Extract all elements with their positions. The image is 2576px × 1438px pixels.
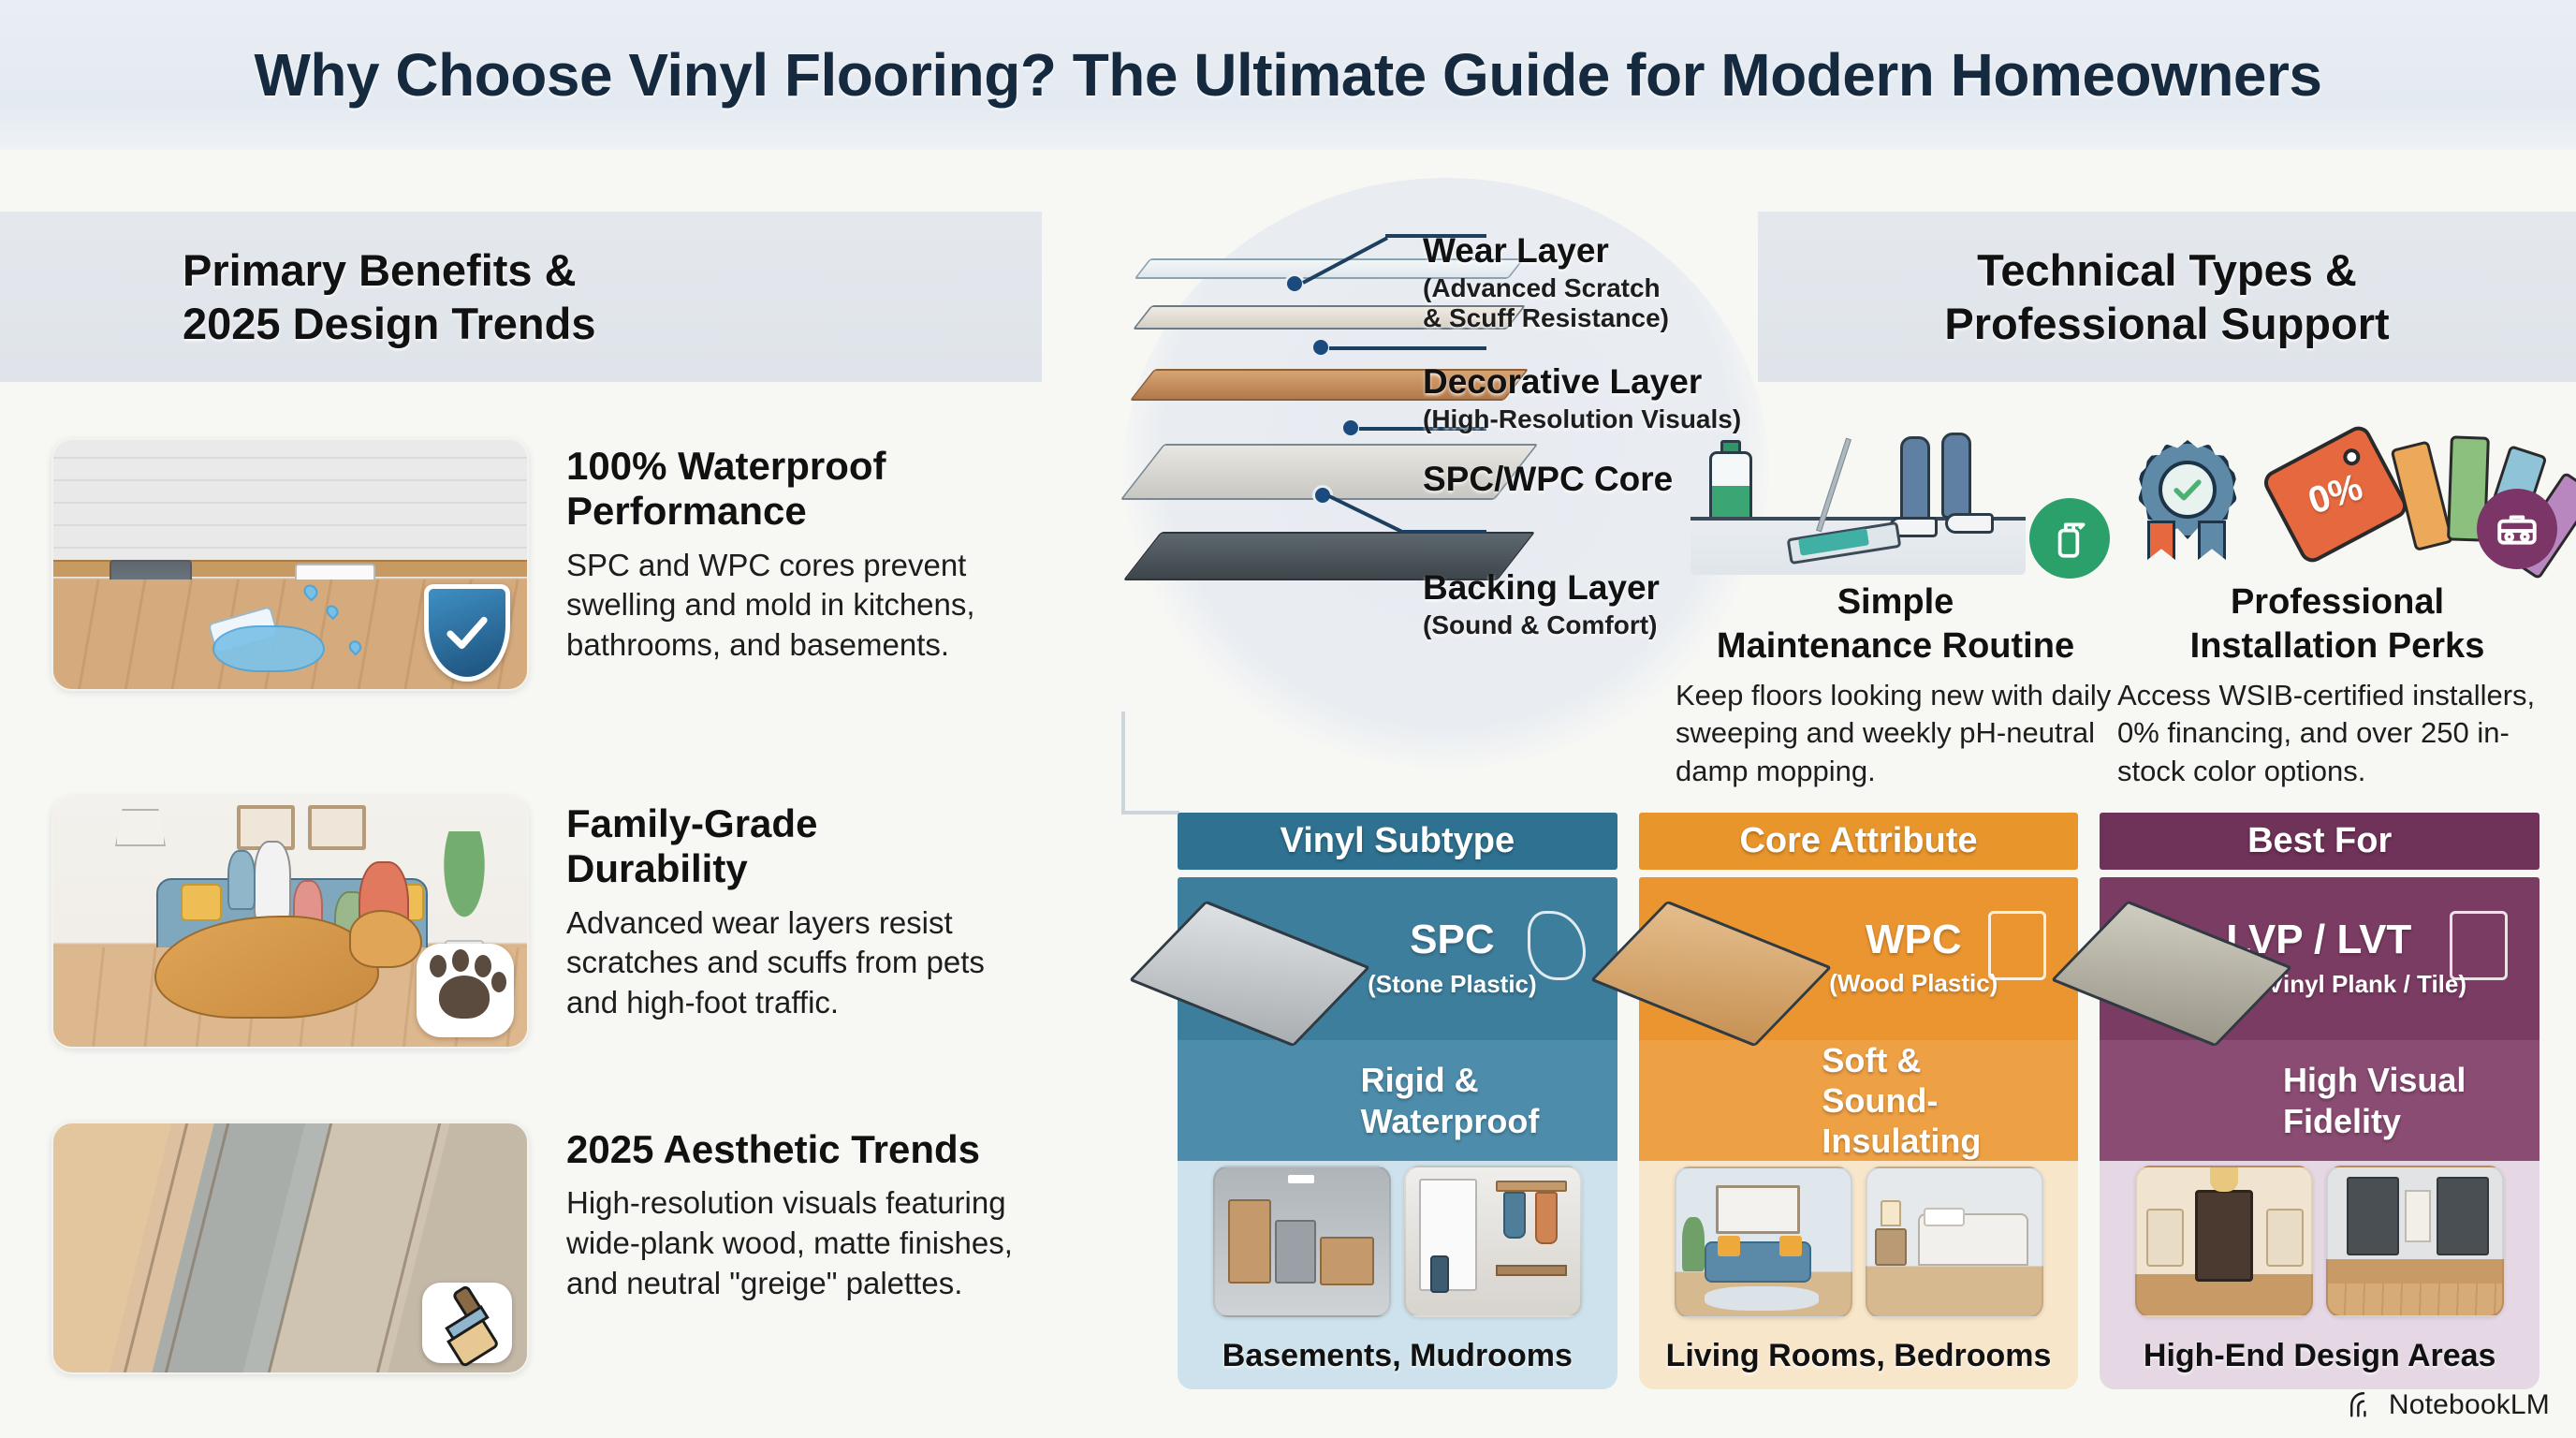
bedroom-illustration: [1866, 1167, 2043, 1318]
column-footer-cell: High-End Design Areas: [2100, 1323, 2539, 1389]
living-room-illustration: [1675, 1167, 1852, 1318]
column-header: Core Attribute: [1639, 813, 2079, 870]
label-core-layer: SPC/WPC Core: [1423, 461, 1673, 499]
diagram-connector-stem: [1121, 712, 1125, 814]
spray-bottle-icon: [2029, 498, 2110, 579]
column-footer-cell: Living Rooms, Bedrooms: [1639, 1323, 2079, 1389]
feature-title: Family-Grade Durability: [566, 801, 1006, 892]
feature-durability: Family-Grade Durability Advanced wear la…: [51, 796, 1044, 1049]
mopping-floor-illustration: [1676, 419, 2115, 579]
column-header: Vinyl Subtype: [1178, 813, 1617, 870]
plank-icon: [2450, 911, 2508, 980]
certification-financing-colors-icons: 0%: [2117, 419, 2557, 579]
column-code-cell: SPC (Stone Plastic): [1178, 877, 1617, 1040]
card-body: Access WSIB-certified installers, 0% fin…: [2117, 677, 2557, 790]
paint-brush-icon: [422, 1283, 512, 1363]
best-for-text: Basements, Mudrooms: [1222, 1338, 1573, 1374]
wood-grain-icon: [1988, 911, 2046, 980]
label-wear-layer: Wear Layer (Advanced Scratch & Scuff Res…: [1423, 232, 1669, 333]
notebooklm-logo-icon: [2348, 1389, 2379, 1421]
zero-percent-tag-icon: 0%: [2260, 422, 2411, 567]
feature-body: Advanced wear layers resist scratches an…: [566, 903, 1034, 1024]
subtype-code: WPC: [1829, 918, 1998, 961]
subtype-expansion: (Stone Plastic): [1368, 970, 1537, 999]
basement-storage-illustration: [1213, 1166, 1391, 1317]
right-banner-line-2: Professional Support: [1944, 297, 2389, 350]
subtype-code: SPC: [1368, 918, 1537, 961]
table-column-lvp-lvt: Best For LVP / LVT (Luxury Vinyl Plank /…: [2100, 813, 2539, 1389]
card-maintenance: Simple Maintenance Routine Keep floors l…: [1676, 419, 2115, 790]
diagram-connector-elbow: [1121, 811, 1179, 814]
left-banner-line-2: 2025 Design Trends: [183, 297, 595, 350]
page-title: Why Choose Vinyl Flooring? The Ultimate …: [254, 40, 2321, 110]
kitchen-water-spill-illustration: [51, 438, 529, 691]
column-images-cell: [2100, 1161, 2539, 1322]
toolbox-icon: [2477, 489, 2557, 569]
tag-label: 0%: [2304, 466, 2368, 523]
column-images-cell: [1639, 1161, 2079, 1322]
attribute-text: High Visual Fidelity: [2283, 1060, 2498, 1140]
table-column-spc: Vinyl Subtype SPC (Stone Plastic) Rigid …: [1178, 813, 1617, 1389]
column-code-cell: WPC (Wood Plastic): [1639, 877, 2079, 1040]
attribute-text: Rigid & Waterproof: [1361, 1060, 1576, 1140]
watermark-label: NotebookLM: [2389, 1389, 2550, 1421]
feature-title: 100% Waterproof Performance: [566, 444, 1006, 535]
left-column-banner: Primary Benefits & 2025 Design Trends: [0, 212, 1042, 382]
label-backing-layer: Backing Layer (Sound & Comfort): [1423, 569, 1660, 640]
feature-body: High-resolution visuals featuring wide-p…: [566, 1183, 1034, 1304]
right-banner-line-1: Technical Types &: [1977, 243, 2357, 297]
subtype-expansion: (Wood Plastic): [1829, 969, 1998, 998]
card-installation-perks: 0% Professional Installation Perks Acces…: [2117, 419, 2557, 790]
column-attribute-cell: Soft & Sound-Insulating: [1639, 1040, 2079, 1162]
attribute-text: Soft & Sound-Insulating: [1822, 1040, 2037, 1162]
feature-aesthetic-trends: 2025 Aesthetic Trends High-resolution vi…: [51, 1122, 1044, 1374]
mudroom-entry-illustration: [1404, 1166, 1582, 1317]
card-title-line-2: Maintenance Routine: [1676, 626, 2115, 667]
certification-badge-icon: [2138, 440, 2237, 539]
table-column-wpc: Core Attribute WPC (Wood Plastic) Soft &…: [1639, 813, 2079, 1389]
wide-plank-flooring-samples: [51, 1122, 529, 1374]
card-title-line-1: Professional: [2117, 582, 2557, 623]
luxury-hallway-illustration: [2326, 1166, 2504, 1317]
page-header: Why Choose Vinyl Flooring? The Ultimate …: [0, 0, 2576, 150]
column-attribute-cell: Rigid & Waterproof: [1178, 1040, 1617, 1161]
best-for-text: Living Rooms, Bedrooms: [1666, 1338, 2052, 1374]
comparison-table: Vinyl Subtype SPC (Stone Plastic) Rigid …: [1178, 813, 2539, 1389]
column-header: Best For: [2100, 813, 2539, 870]
right-column-banner: Technical Types & Professional Support: [1758, 212, 2576, 382]
feature-body: SPC and WPC cores prevent swelling and m…: [566, 546, 1034, 667]
column-footer-cell: Basements, Mudrooms: [1178, 1323, 1617, 1389]
column-attribute-cell: High Visual Fidelity: [2100, 1040, 2539, 1161]
luxury-foyer-illustration: [2135, 1166, 2313, 1317]
notebooklm-watermark: NotebookLM: [2348, 1389, 2550, 1421]
card-body: Keep floors looking new with daily sweep…: [1676, 677, 2115, 790]
card-title-line-2: Installation Perks: [2117, 626, 2557, 667]
paw-print-icon: [417, 944, 514, 1037]
column-images-cell: [1178, 1161, 1617, 1322]
family-with-dog-living-room-illustration: [51, 796, 529, 1049]
stone-icon: [1528, 911, 1586, 980]
best-for-text: High-End Design Areas: [2144, 1338, 2496, 1374]
feature-waterproof: 100% Waterproof Performance SPC and WPC …: [51, 438, 1044, 691]
feature-title: 2025 Aesthetic Trends: [566, 1127, 1006, 1172]
card-title-line-1: Simple: [1676, 582, 2115, 623]
left-banner-line-1: Primary Benefits &: [183, 243, 577, 297]
column-code-cell: LVP / LVT (Luxury Vinyl Plank / Tile): [2100, 877, 2539, 1040]
